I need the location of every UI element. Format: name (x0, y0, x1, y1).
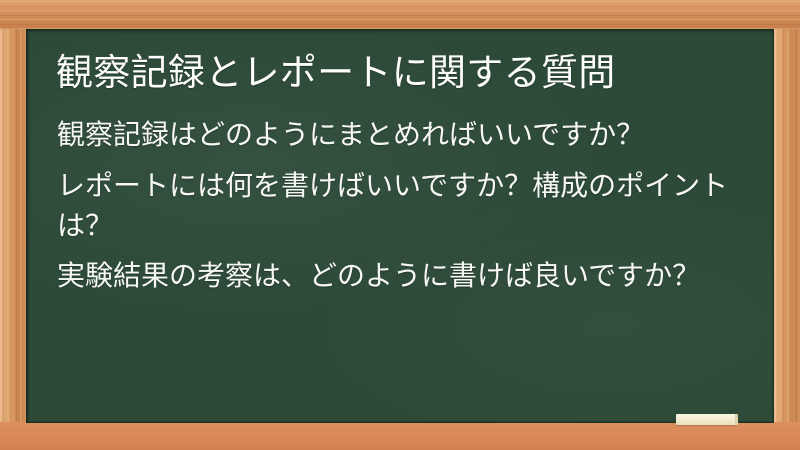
question-list: 観察記録はどのようにまとめればいいですか？ レポートには何を書けばいいですか？構… (57, 115, 763, 296)
chalkboard-slide: 観察記録とレポートに関する質問 観察記録はどのようにまとめればいいですか？ レポ… (0, 0, 800, 450)
chalk-stick-icon (676, 414, 736, 425)
question-item-2: レポートには何を書けばいいですか？構成のポイントは？ (57, 166, 763, 246)
frame-bottom-ledge (0, 422, 800, 450)
question-item-3: 実験結果の考察は、どのように書けば良いですか？ (57, 256, 763, 296)
question-item-1: 観察記録はどのようにまとめればいいですか？ (57, 115, 763, 155)
blackboard-surface: 観察記録とレポートに関する質問 観察記録はどのようにまとめればいいですか？ レポ… (26, 29, 774, 423)
frame-top-rail (0, 0, 800, 29)
slide-title: 観察記録とレポートに関する質問 (56, 53, 756, 93)
